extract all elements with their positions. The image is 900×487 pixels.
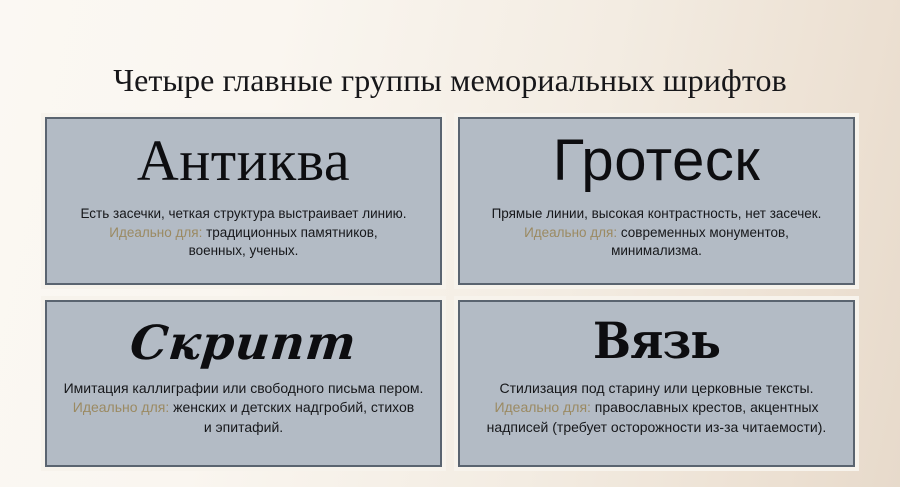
card-grotesk-headline: Гротеск [460,132,853,190]
card-vyaz-ideal-label: Идеально для: [494,399,590,415]
card-script-ideal-label: Идеально для: [73,399,169,415]
card-antiqua[interactable]: Антиква Есть засечки, четкая структура в… [45,117,442,285]
card-grotesk-body: Прямые линии, высокая контрастность, нет… [460,205,853,261]
slide-canvas: Четыре главные группы мемориальных шрифт… [0,0,900,487]
card-vyaz[interactable]: Вязь Стилизация под старину или церковны… [458,300,855,467]
font-group-card-grid: Антиква Есть засечки, четкая структура в… [45,117,855,467]
card-script-ideal-text-2: и эпитафий. [57,418,430,437]
card-vyaz-body: Стилизация под старину или церковные тек… [460,379,853,437]
card-antiqua-ideal-line1: Идеально для: традиционных памятников, [57,224,430,243]
card-vyaz-ideal-text-2: надписей (требует осторожности из-за чит… [470,418,843,437]
card-vyaz-ideal-line1: Идеально для: православных крестов, акце… [470,398,843,417]
card-script-ideal-line1: Идеально для: женских и детских надгроби… [57,398,430,417]
card-antiqua-ideal-label: Идеально для: [109,225,202,240]
card-script-ideal-text-1: женских и детских надгробий, стихов [169,399,414,415]
page-title: Четыре главные группы мемориальных шрифт… [0,62,900,99]
card-grotesk-ideal-label: Идеально для: [524,225,617,240]
card-antiqua-body: Есть засечки, четкая структура выстраива… [47,205,440,261]
card-vyaz-headline: Вязь [480,316,834,366]
card-grotesk[interactable]: Гротеск Прямые линии, высокая контрастно… [458,117,855,285]
card-script[interactable]: Скрипт Имитация каллиграфии или свободно… [45,300,442,467]
card-script-body: Имитация каллиграфии или свободного пись… [47,379,440,437]
card-grotesk-description: Прямые линии, высокая контрастность, нет… [470,205,843,224]
card-script-headline: Скрипт [45,320,442,367]
card-antiqua-headline: Антиква [47,132,440,190]
card-grotesk-ideal-text-1: современных монументов, [617,225,789,240]
card-antiqua-description: Есть засечки, четкая структура выстраива… [57,205,430,224]
card-antiqua-ideal-text-2: военных, ученых. [57,242,430,261]
card-script-description: Имитация каллиграфии или свободного пись… [57,379,430,398]
card-vyaz-description: Стилизация под старину или церковные тек… [470,379,843,398]
card-grotesk-ideal-line1: Идеально для: современных монументов, [470,224,843,243]
card-antiqua-ideal-text-1: традиционных памятников, [202,225,377,240]
card-grotesk-ideal-text-2: минимализма. [470,242,843,261]
card-vyaz-ideal-text-1: православных крестов, акцентных [591,399,819,415]
